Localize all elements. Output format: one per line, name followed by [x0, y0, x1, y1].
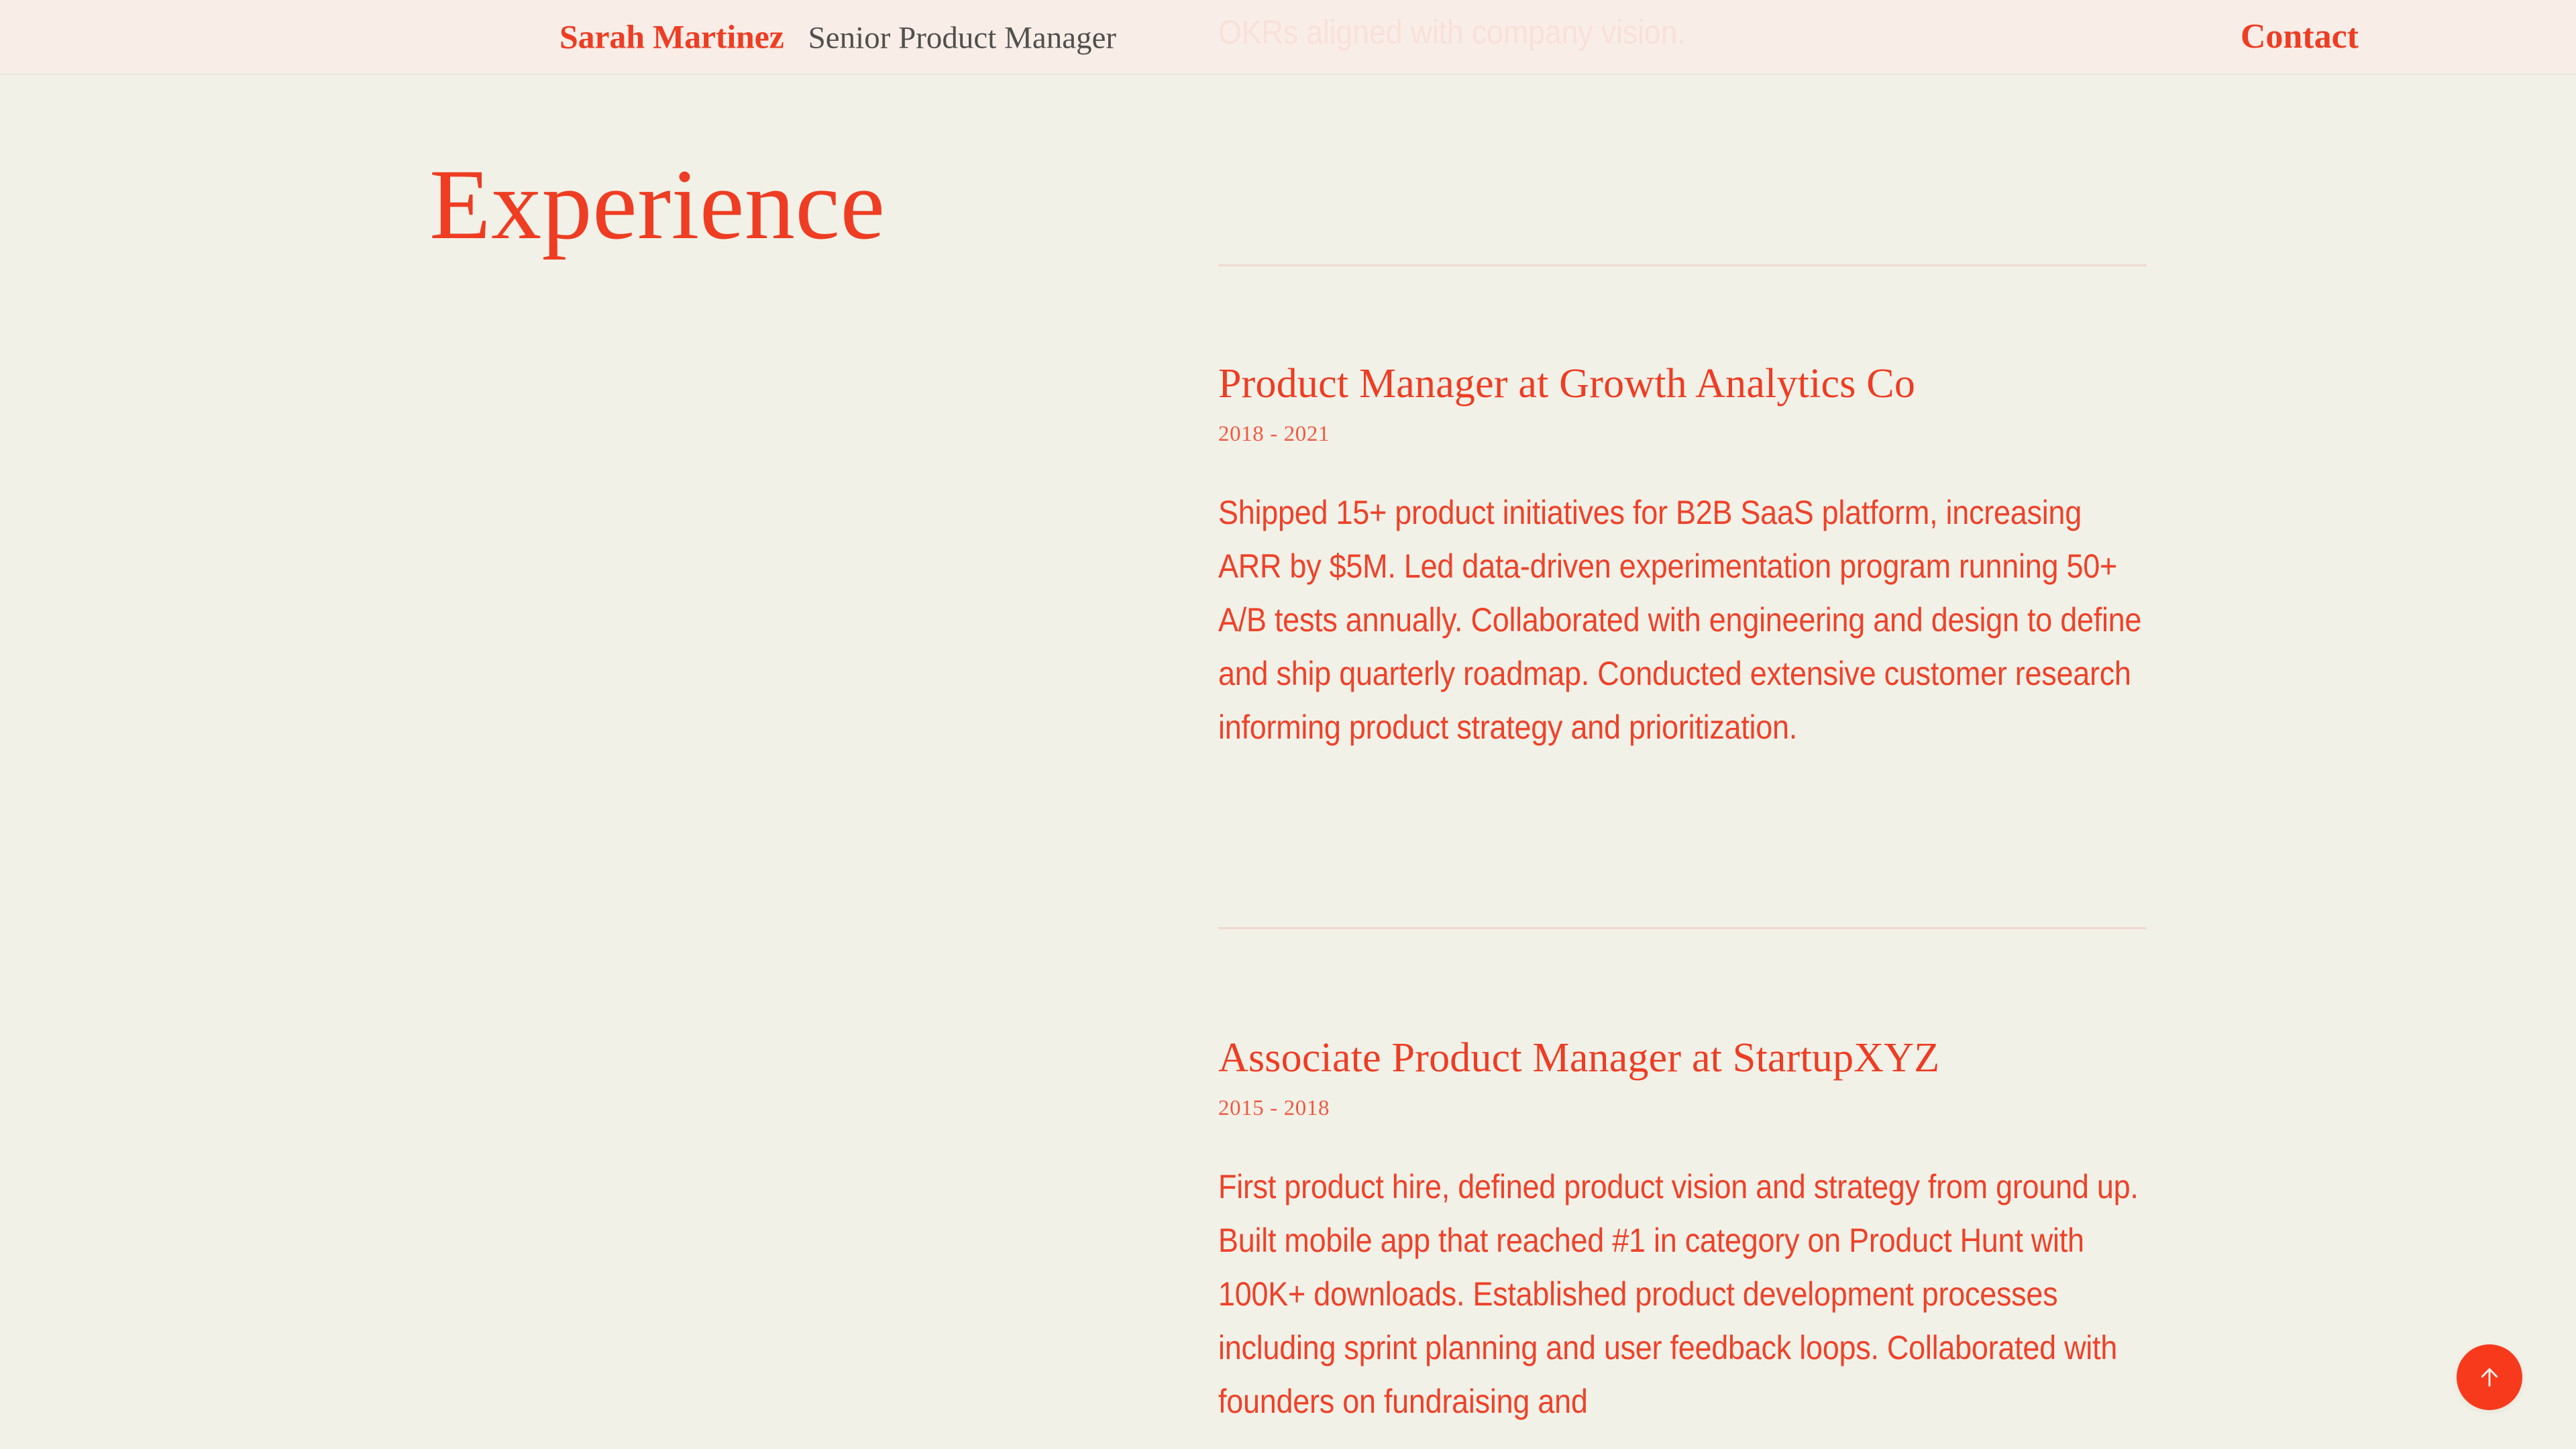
brand-name[interactable]: Sarah Martinez — [559, 20, 784, 54]
entry-dates: 2018 - 2021 — [1218, 423, 2147, 445]
scroll-to-top-button[interactable] — [2457, 1344, 2522, 1410]
site-header: Sarah Martinez Senior Product Manager Co… — [0, 0, 2576, 75]
entry-title: Associate Product Manager at StartupXYZ — [1218, 1036, 2147, 1080]
entry-title: Product Manager at Growth Analytics Co — [1218, 362, 2147, 406]
entry-divider — [1218, 264, 2147, 266]
brand-role: Senior Product Manager — [808, 23, 1116, 54]
entry-divider — [1218, 927, 2147, 929]
page-content: Experience engineers, designers, and ana… — [0, 0, 2576, 1449]
arrow-up-icon — [2476, 1364, 2503, 1391]
experience-heading-column: Experience — [429, 154, 1167, 255]
entry-dates: 2015 - 2018 — [1218, 1097, 2147, 1120]
page-title: Experience — [429, 154, 1167, 255]
entry-description: Shipped 15+ product initiatives for B2B … — [1218, 486, 2147, 754]
entry-description: First product hire, defined product visi… — [1218, 1160, 2147, 1428]
experience-entry: Associate Product Manager at StartupXYZ … — [1218, 1036, 2147, 1428]
nav-link-contact[interactable]: Contact — [2241, 19, 2359, 54]
brand-block[interactable]: Sarah Martinez Senior Product Manager — [559, 20, 1116, 54]
experience-entry: Product Manager at Growth Analytics Co 2… — [1218, 362, 2147, 754]
